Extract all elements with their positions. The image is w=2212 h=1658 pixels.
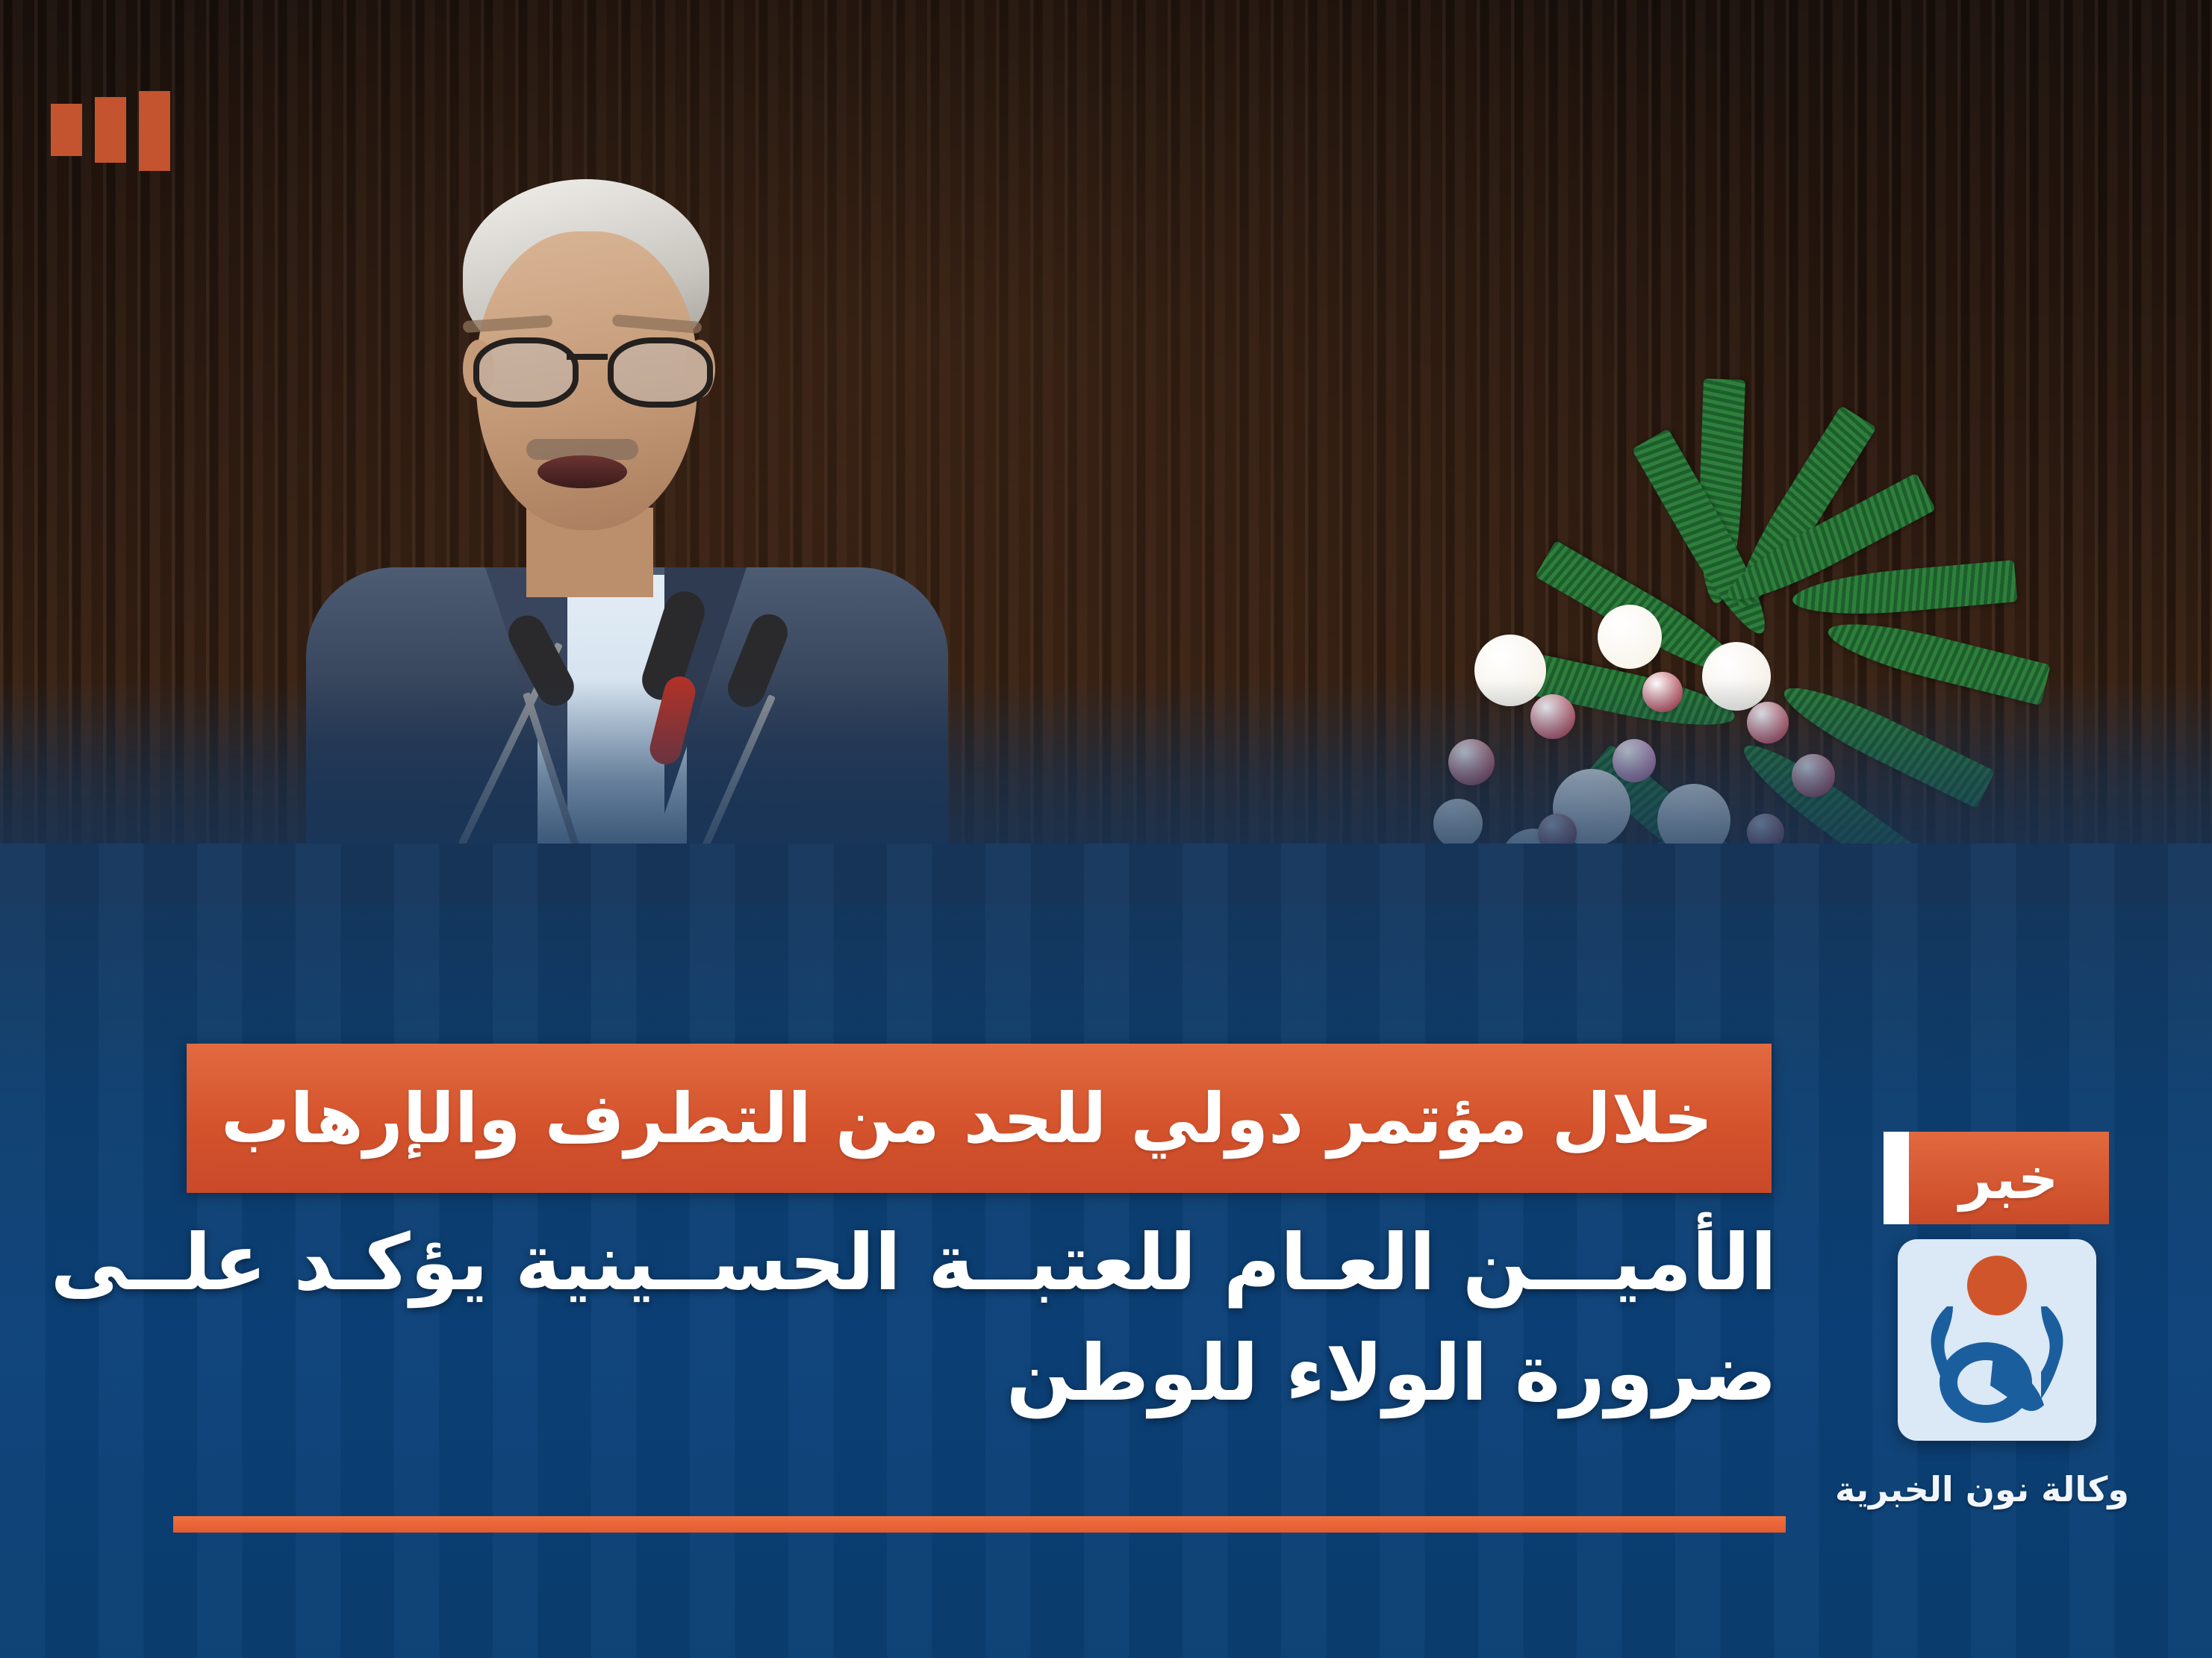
palm-frond-icon: [1791, 560, 2018, 621]
headline-line-2: ضرورة الولاء للوطن: [149, 1318, 1777, 1429]
glasses-bridge: [567, 354, 608, 360]
corner-bars-logo-icon: [51, 91, 170, 171]
glasses-icon: [473, 337, 701, 397]
kicker-banner: خلال مؤتمر دولي للحد من التطرف والإرهاب: [187, 1044, 1772, 1193]
lens-right: [608, 337, 713, 408]
mouth: [538, 455, 627, 488]
agency-logo: [1898, 1239, 2096, 1441]
logo-arm-right: [2041, 1306, 2063, 1399]
kicker-text: خلال مؤتمر دولي للحد من التطرف والإرهاب: [221, 1079, 1713, 1159]
headline: الأميـــن العـام للعتبــة الحســينية يؤك…: [149, 1208, 1777, 1428]
headline-line-1: الأميـــن العـام للعتبــة الحســينية يؤك…: [149, 1208, 1777, 1318]
lens-left: [473, 337, 579, 408]
accent-divider: [173, 1516, 1786, 1533]
logo-bar-2: [95, 97, 126, 163]
noon-agency-logo-icon: [1898, 1239, 2096, 1441]
logo-bar-1: [139, 91, 170, 171]
news-badge-white-tab: [1884, 1132, 1909, 1224]
news-badge: خبر: [1884, 1132, 2109, 1224]
news-card: /*fronds+blossoms injected below*/: [0, 0, 2212, 1658]
agency-name: وكالة نون الخبرية: [1807, 1469, 2158, 1509]
news-badge-label: خبر: [1959, 1145, 2058, 1212]
logo-bar-3: [51, 104, 82, 156]
news-badge-fill: خبر: [1909, 1132, 2109, 1224]
flower-blossom-icon: [1598, 605, 1662, 669]
logo-sun-circle: [1967, 1256, 2027, 1315]
